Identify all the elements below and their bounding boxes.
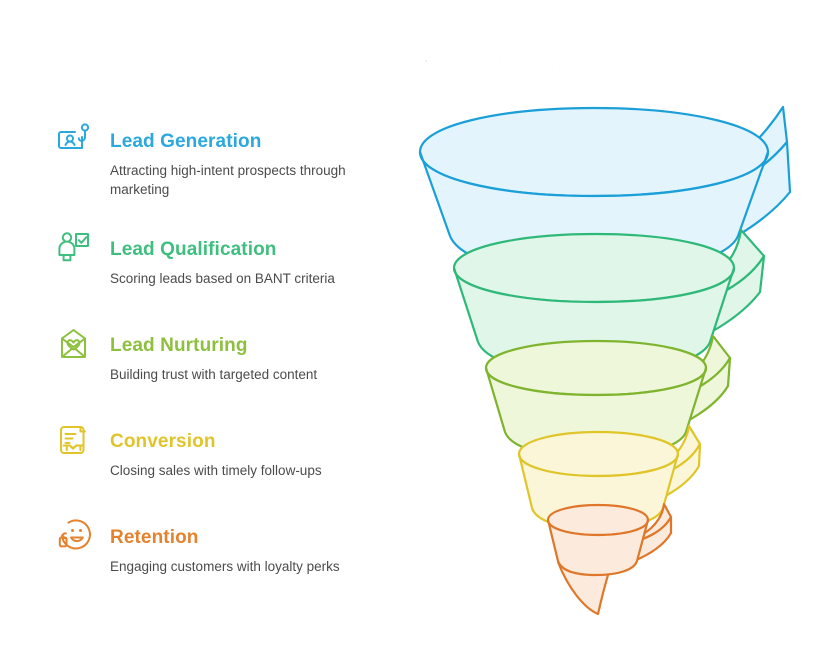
stage-description: Closing sales with timely follow-ups [110, 461, 400, 480]
contract-handshake-icon [52, 418, 96, 462]
stage-item-retention[interactable]: Retention Engaging customers with loyalt… [52, 508, 402, 598]
stage-title: Conversion [110, 412, 402, 454]
speck-artifact [500, 57, 501, 58]
smiley-thumbsup-icon [52, 514, 96, 558]
stage-item-lead-nurturing[interactable]: Lead Nurturing Building trust with targe… [52, 316, 402, 412]
speck-artifact [552, 70, 553, 71]
person-checkmark-icon [52, 226, 96, 270]
stage-description: Scoring leads based on BANT criteria [110, 269, 400, 288]
speck-artifact [425, 60, 427, 62]
sales-funnel-graphic [398, 80, 808, 640]
stage-title: Lead Qualification [110, 220, 402, 262]
funnel-svg [398, 80, 808, 640]
stage-item-lead-qualification[interactable]: Lead Qualification Scoring leads based o… [52, 220, 402, 316]
stage-description: Building trust with targeted content [110, 365, 400, 384]
funnel-band-retention [548, 504, 671, 614]
stage-title: Lead Nurturing [110, 316, 402, 358]
stage-item-conversion[interactable]: Conversion Closing sales with timely fol… [52, 412, 402, 508]
stage-list: Lead Generation Attracting high-intent p… [52, 112, 402, 598]
stage-description: Attracting high-intent prospects through… [110, 161, 400, 199]
envelope-heart-icon [52, 322, 96, 366]
infographic-canvas: Lead Generation Attracting high-intent p… [0, 0, 822, 672]
stage-title: Retention [110, 508, 402, 550]
stage-description: Engaging customers with loyalty perks [110, 557, 400, 576]
stage-item-lead-generation[interactable]: Lead Generation Attracting high-intent p… [52, 112, 402, 220]
stage-title: Lead Generation [110, 112, 402, 154]
person-card-hook-icon [52, 118, 96, 162]
